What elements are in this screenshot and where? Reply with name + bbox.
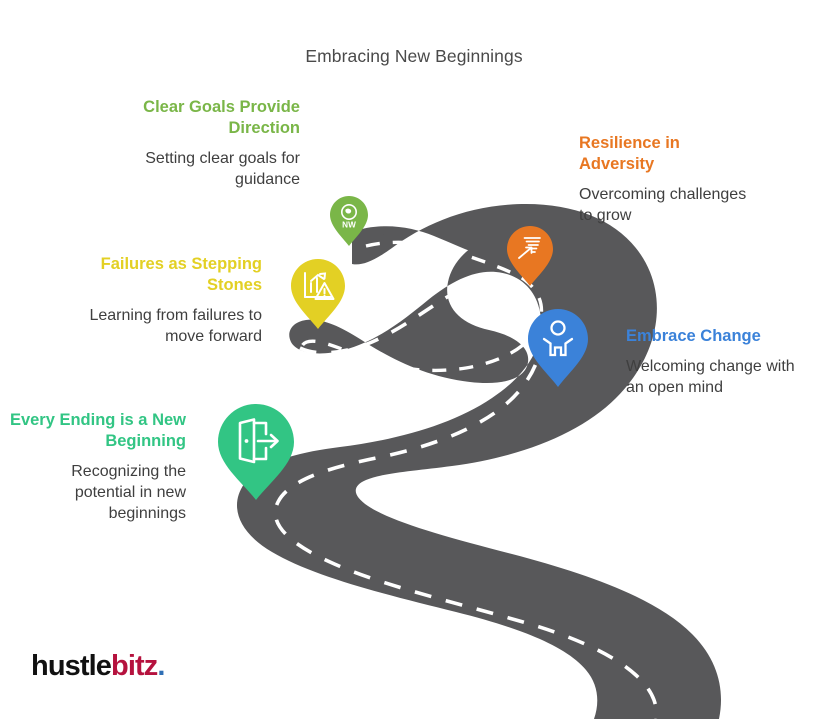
callout-heading-failures: Failures as Stepping Stones (62, 254, 262, 296)
compass-direction-label: NW (342, 221, 356, 230)
callout-heading-resilience: Resilience in Adversity (579, 133, 759, 175)
logo-text-secondary: bitz (111, 650, 157, 682)
callout-resilience: Resilience in Adversity Overcoming chall… (579, 133, 759, 227)
pin-shape (507, 226, 553, 286)
callout-heading-embrace-change: Embrace Change (626, 326, 812, 347)
callout-body-clear-goals: Setting clear goals for guidance (88, 149, 300, 191)
callout-body-new-beginning: Recognizing the potential in new beginni… (8, 462, 186, 524)
map-pin-new-beginning[interactable] (218, 404, 294, 500)
callout-clear-goals: Clear Goals Provide Direction Setting cl… (88, 97, 300, 191)
callout-heading-new-beginning: Every Ending is a New Beginning (8, 410, 186, 452)
map-pin-clear-goals[interactable]: NW (330, 196, 368, 246)
callout-body-failures: Learning from failures to move forward (62, 306, 262, 348)
road-center-dashes-lower (275, 283, 656, 719)
callout-new-beginning: Every Ending is a New Beginning Recogniz… (8, 410, 186, 525)
logo-text-primary: hustle (31, 650, 111, 682)
callout-embrace-change: Embrace Change Welcoming change with an … (626, 326, 812, 399)
map-pin-embrace-change[interactable] (528, 309, 588, 387)
brand-logo[interactable]: hustlebitz. (31, 652, 165, 681)
infographic-canvas: Embracing New Beginnings Clear Goals Pro… (0, 0, 828, 719)
map-pin-resilience[interactable] (507, 226, 553, 286)
callout-failures: Failures as Stepping Stones Learning fro… (62, 254, 262, 348)
page-title: Embracing New Beginnings (0, 46, 828, 67)
callout-body-embrace-change: Welcoming change with an open mind (626, 357, 812, 399)
pin-shape (218, 404, 294, 500)
map-pin-failures[interactable] (291, 259, 345, 329)
callout-heading-clear-goals: Clear Goals Provide Direction (88, 97, 300, 139)
callout-body-resilience: Overcoming challenges to grow (579, 185, 759, 227)
logo-dot: . (157, 650, 164, 682)
